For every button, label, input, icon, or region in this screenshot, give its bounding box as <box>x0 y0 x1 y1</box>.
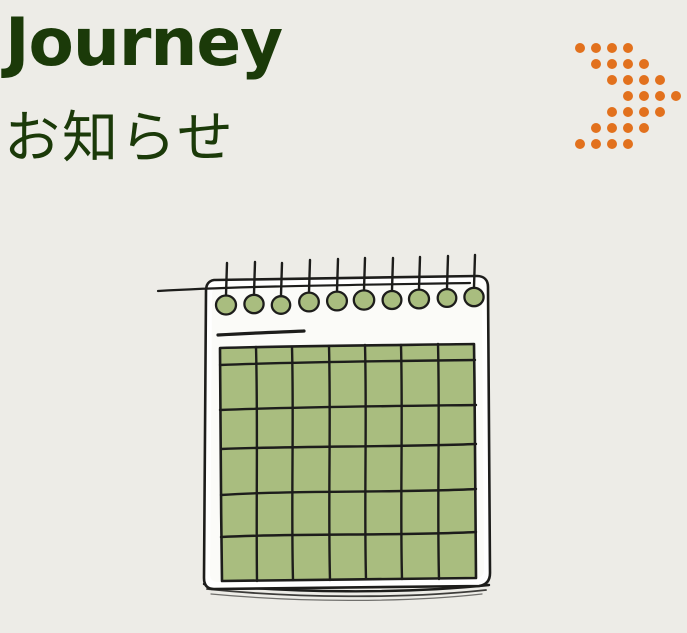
calendar-col-line <box>329 346 330 580</box>
halftone-dot <box>575 139 585 149</box>
halftone-dot <box>623 139 633 149</box>
halftone-dot <box>639 59 649 69</box>
halftone-dot <box>639 91 649 101</box>
halftone-dot <box>607 59 617 69</box>
halftone-dot <box>607 139 617 149</box>
halftone-dot <box>671 91 681 101</box>
halftone-dot <box>639 123 649 133</box>
halftone-dot <box>591 123 601 133</box>
calendar-grid <box>220 344 476 581</box>
calendar-col-line <box>256 347 257 581</box>
halftone-dot <box>655 107 665 117</box>
halftone-dot <box>623 91 633 101</box>
page-title-english: Journey <box>5 10 282 76</box>
halftone-dot <box>639 75 649 85</box>
calendar-col-line <box>292 347 293 580</box>
halftone-dot <box>591 139 601 149</box>
halftone-dot <box>623 75 633 85</box>
halftone-dot <box>623 107 633 117</box>
halftone-dot <box>623 43 633 53</box>
halftone-dot <box>607 43 617 53</box>
halftone-dot <box>607 75 617 85</box>
halftone-dot <box>607 107 617 117</box>
halftone-dot <box>623 59 633 69</box>
calendar-col-line <box>438 344 439 579</box>
calendar-col-line <box>365 345 366 579</box>
calendar-col-line <box>401 345 402 579</box>
calendar-illustration <box>152 243 541 633</box>
halftone-chevron-arrow-icon <box>570 34 687 162</box>
halftone-dot <box>607 123 617 133</box>
page-root: Journey お知らせ <box>0 0 687 633</box>
halftone-dot <box>655 91 665 101</box>
halftone-dot <box>639 107 649 117</box>
halftone-dot <box>623 123 633 133</box>
halftone-dot <box>591 59 601 69</box>
page-title-japanese: お知らせ <box>4 108 235 171</box>
halftone-dot <box>655 75 665 85</box>
halftone-dot <box>591 43 601 53</box>
halftone-dot <box>575 43 585 53</box>
